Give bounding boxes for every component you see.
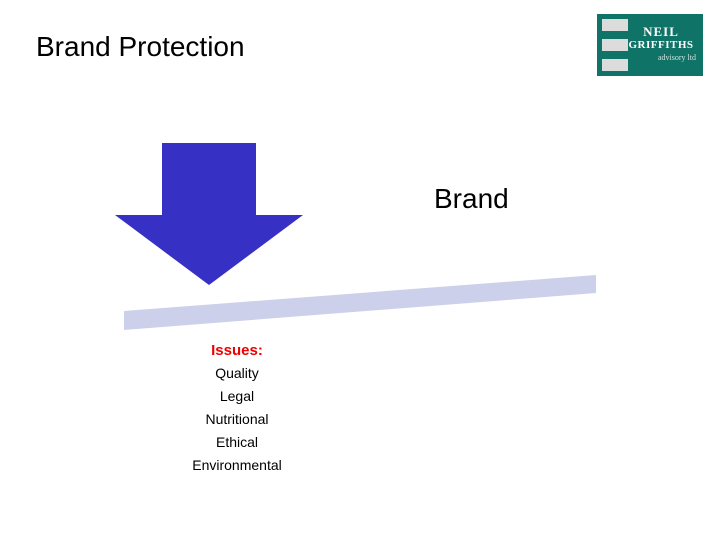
logo-name-line-2: GRIFFITHS [625, 39, 697, 52]
logo-wordmark: NEIL GRIFFITHS advisory ltd [625, 25, 697, 63]
arrow-down-shape [115, 143, 303, 285]
pressure-arrow-icon [114, 143, 304, 286]
issue-item-legal: Legal [126, 385, 348, 408]
logo-tagline: advisory ltd [625, 52, 697, 63]
issue-item-ethical: Ethical [126, 431, 348, 454]
issue-item-quality: Quality [126, 362, 348, 385]
logo-left-edge [597, 19, 602, 71]
issue-item-environmental: Environmental [126, 454, 348, 477]
company-logo: NEIL GRIFFITHS advisory ltd [597, 14, 703, 76]
logo-name-line-1: NEIL [625, 25, 697, 39]
slide-canvas: Brand Protection NEIL GRIFFITHS advisory… [0, 0, 720, 540]
issues-heading: Issues: [126, 339, 348, 362]
brand-label: Brand [434, 182, 509, 216]
issues-list: Issues: Quality Legal Nutritional Ethica… [126, 339, 348, 477]
issue-item-nutritional: Nutritional [126, 408, 348, 431]
page-title: Brand Protection [36, 30, 245, 64]
